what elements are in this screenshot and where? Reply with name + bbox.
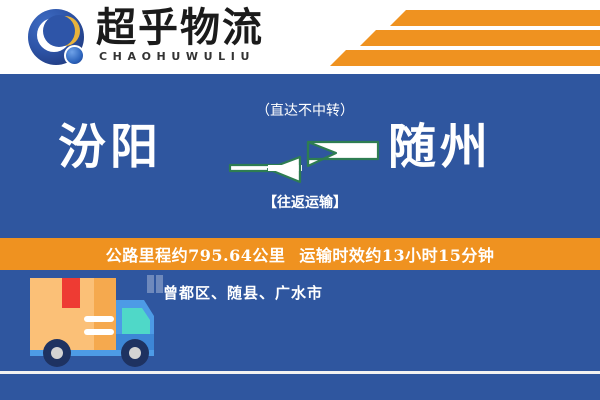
circle-crescent-logo-icon (26, 9, 90, 67)
logo-dot (64, 45, 85, 66)
coverage-areas-text: 曾都区、随县、广水市 (163, 282, 323, 303)
stripe-2 (360, 30, 600, 46)
watermark-icon (146, 274, 164, 294)
distance-text: 公路里程约795.64公里 (106, 242, 286, 266)
route-note-top: （直达不中转） (240, 100, 370, 120)
stripe-1 (390, 10, 600, 26)
brand-name-en: CHAOHUWULIU (99, 50, 255, 63)
route-info-bar: 公路里程约795.64公里 运输时效约13小时15分钟 (0, 238, 600, 270)
coverage-panel: 曾都区、随县、广水市 (0, 270, 600, 400)
route-panel: 汾阳 （直达不中转） 【往返运输】 随州 (0, 74, 600, 238)
brand-name-cn: 超乎物流 (96, 6, 264, 50)
duration-text: 运输时效约13小时15分钟 (299, 242, 494, 266)
stripe-3 (330, 50, 600, 66)
destination-city: 随州 (388, 118, 492, 176)
logo-crescent-cut (43, 15, 75, 47)
ground-line (0, 371, 600, 374)
brand-header: 超乎物流 CHAOHUWULIU (0, 0, 600, 74)
header-stripes (330, 0, 600, 74)
logistics-route-banner: 超乎物流 CHAOHUWULIU 汾阳 （直达不中转） 【往返运输】 随州 公路… (0, 0, 600, 400)
origin-city: 汾阳 (58, 118, 162, 176)
bidirectional-arrow-icon (228, 140, 380, 184)
route-note-bottom: 【往返运输】 (235, 192, 375, 212)
